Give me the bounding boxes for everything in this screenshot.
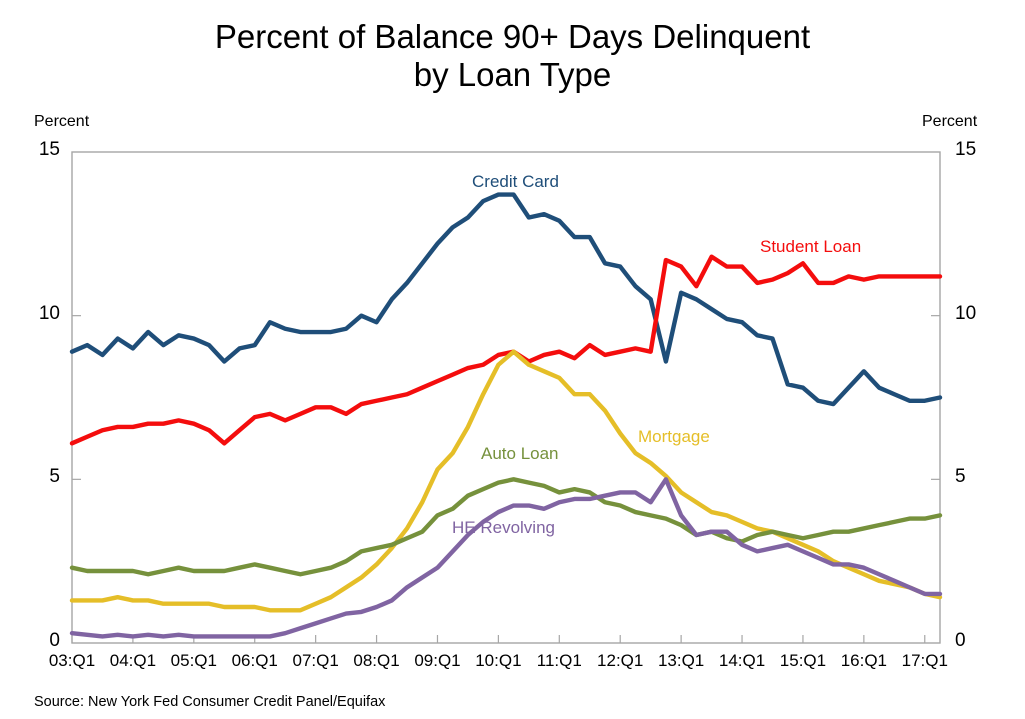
x-tick-label-16-Q1: 16:Q1 [832,651,896,671]
x-tick-label-14-Q1: 14:Q1 [710,651,774,671]
x-tick-label-07-Q1: 07:Q1 [284,651,348,671]
series-label-student-loan: Student Loan [760,237,861,257]
delinquency-line-chart: Percent of Balance 90+ Days Delinquent b… [0,0,1025,719]
y-axis-unit-left: Percent [34,113,89,131]
y-tick-label-right-15: 15 [955,139,995,161]
x-tick-label-17-Q1: 17:Q1 [893,651,957,671]
source-note: Source: New York Fed Consumer Credit Pan… [34,694,385,710]
chart-title: Percent of Balance 90+ Days Delinquent b… [0,18,1025,94]
y-tick-label-right-0: 0 [955,630,995,652]
x-tick-label-08-Q1: 08:Q1 [345,651,409,671]
y-tick-label-left-0: 0 [20,630,60,652]
y-tick-label-left-15: 15 [20,139,60,161]
y-tick-label-left-5: 5 [20,466,60,488]
x-tick-label-15-Q1: 15:Q1 [771,651,835,671]
x-tick-label-11-Q1: 11:Q1 [527,651,591,671]
x-tick-label-13-Q1: 13:Q1 [649,651,713,671]
series-label-mortgage: Mortgage [638,427,710,447]
x-tick-label-12-Q1: 12:Q1 [588,651,652,671]
y-axis-unit-right: Percent [922,113,977,131]
series-label-auto-loan: Auto Loan [481,444,559,464]
y-tick-label-right-10: 10 [955,303,995,325]
series-label-he-revolving: HE Revolving [452,518,555,538]
x-tick-label-03-Q1: 03:Q1 [40,651,104,671]
y-tick-label-left-10: 10 [20,303,60,325]
x-tick-label-10-Q1: 10:Q1 [466,651,530,671]
plot-area [0,0,1025,719]
x-tick-label-06-Q1: 06:Q1 [223,651,287,671]
series-label-credit-card: Credit Card [472,172,559,192]
x-tick-label-04-Q1: 04:Q1 [101,651,165,671]
y-tick-label-right-5: 5 [955,466,995,488]
x-tick-label-09-Q1: 09:Q1 [405,651,469,671]
x-tick-label-05-Q1: 05:Q1 [162,651,226,671]
